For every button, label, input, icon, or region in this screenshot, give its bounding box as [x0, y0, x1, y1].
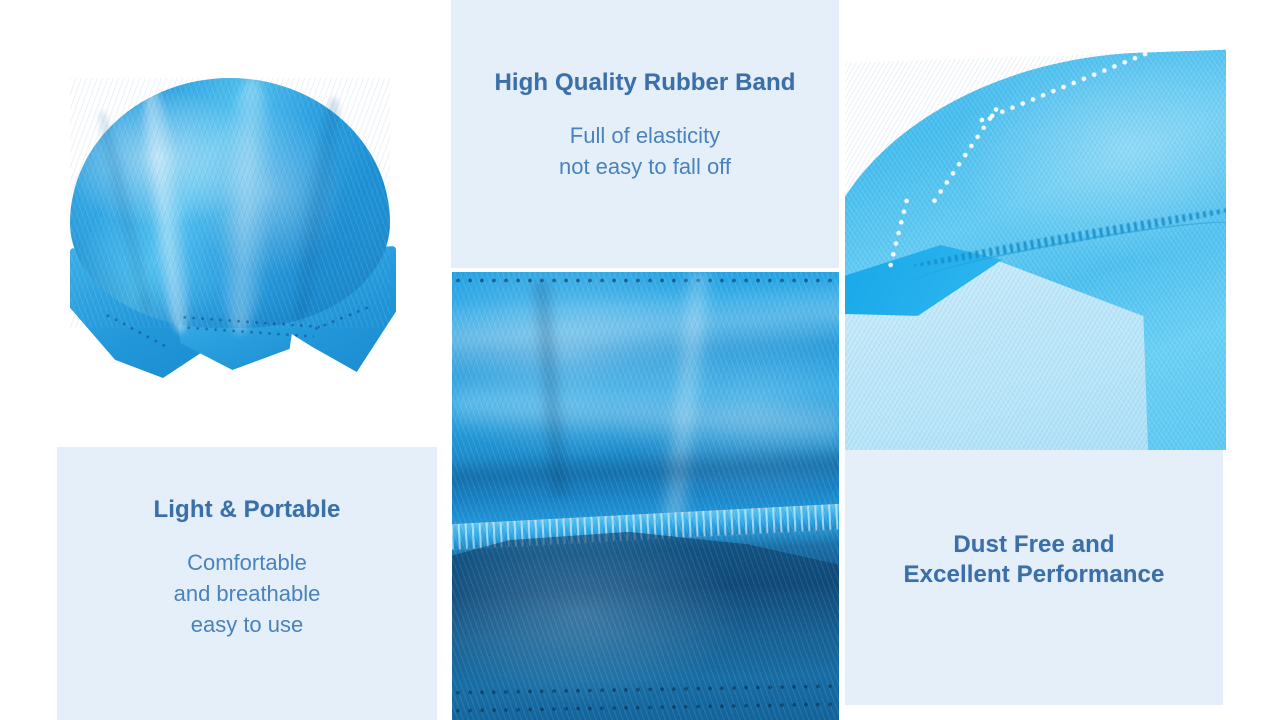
perforation-row: [452, 276, 839, 285]
rubber-band-text-panel: High Quality Rubber Band Full of elastic…: [451, 0, 839, 268]
feature-collage: Light & Portable Comfortable and breatha…: [0, 0, 1280, 720]
fabric-fold: [656, 272, 717, 524]
heading-line: Dust Free and: [953, 530, 1114, 560]
body-line: easy to use: [191, 609, 304, 640]
dust-free-photo: [845, 0, 1226, 450]
fabric-fold: [452, 274, 839, 378]
fabric-fold: [452, 444, 839, 499]
fabric-fold: [528, 280, 574, 497]
nonwoven-texture: [70, 78, 390, 328]
body-line: not easy to fall off: [559, 151, 731, 182]
cap-dome: [70, 78, 390, 328]
cap-crease: [91, 108, 160, 318]
cap-crease: [133, 83, 199, 336]
light-portable-text-panel: Light & Portable Comfortable and breatha…: [57, 447, 437, 720]
cap-crease: [213, 77, 278, 335]
light-portable-photo: [0, 0, 440, 447]
bouffant-cap-image: [60, 78, 400, 368]
fabric-fold: [452, 378, 839, 452]
light-portable-heading: Light & Portable: [57, 495, 437, 525]
dust-free-heading: Dust Free and Excellent Performance: [845, 530, 1223, 590]
elastic-band-macro-image: [452, 272, 839, 720]
body-line: Comfortable: [187, 547, 307, 578]
body-line: Full of elasticity: [570, 120, 720, 151]
light-portable-body: Comfortable and breathable easy to use: [57, 547, 437, 641]
heading-line: Excellent Performance: [904, 560, 1165, 590]
dust-free-text-panel: Dust Free and Excellent Performance: [845, 450, 1223, 705]
rubber-band-heading: High Quality Rubber Band: [451, 68, 839, 98]
rubber-band-body: Full of elasticity not easy to fall off: [451, 120, 839, 182]
cap-crease: [284, 95, 349, 325]
body-line: and breathable: [174, 578, 321, 609]
rubber-band-photo: [452, 272, 839, 720]
